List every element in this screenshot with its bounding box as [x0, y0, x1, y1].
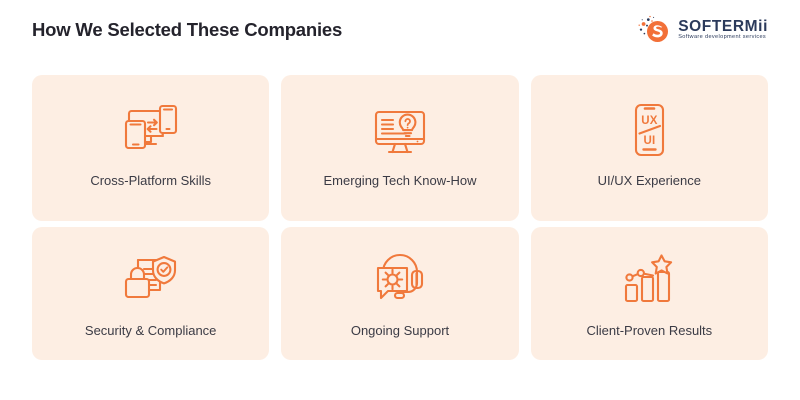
bar-chart-growth-star-icon: [618, 249, 680, 307]
criteria-card-label: Emerging Tech Know-How: [324, 173, 477, 189]
criteria-card-label: UI/UX Experience: [598, 173, 701, 189]
monitor-lightbulb-question-icon: [369, 101, 431, 159]
criteria-card-ongoing-support[interactable]: Ongoing Support: [281, 227, 518, 360]
criteria-card-ui-ux-experience[interactable]: UX UI UI/UX Experience: [531, 75, 768, 221]
logo-name: SOFTERMii: [678, 19, 768, 35]
criteria-card-label: Client-Proven Results: [586, 323, 712, 339]
svg-text:UI: UI: [644, 135, 656, 147]
logo-text: SOFTERMii Software development services: [678, 19, 768, 41]
criteria-card-emerging-tech-know-how[interactable]: Emerging Tech Know-How: [281, 75, 518, 221]
selection-criteria-page: How We Selected These Companies: [0, 0, 800, 400]
lock-document-shield-check-icon: [120, 249, 182, 307]
criteria-card-label: Cross-Platform Skills: [90, 173, 211, 189]
criteria-card-client-proven-results[interactable]: Client-Proven Results: [531, 227, 768, 360]
headset-gear-chat-icon: [369, 249, 431, 307]
devices-sync-icon: [120, 101, 182, 159]
phone-ui-ux-icon: UX UI: [618, 101, 680, 159]
criteria-card-label: Security & Compliance: [85, 323, 217, 339]
svg-text:UX: UX: [642, 115, 659, 127]
softermii-logo[interactable]: SOFTERMii Software development services: [637, 13, 768, 47]
page-title: How We Selected These Companies: [32, 21, 342, 40]
criteria-card-security-compliance[interactable]: Security & Compliance: [32, 227, 269, 360]
logo-tagline: Software development services: [678, 35, 768, 41]
softermii-s-dots-logo-icon: [637, 13, 671, 47]
page-header: How We Selected These Companies: [0, 0, 800, 60]
criteria-card-label: Ongoing Support: [351, 323, 449, 339]
criteria-card-grid: Cross-Platform Skills: [32, 75, 768, 360]
criteria-card-cross-platform-skills[interactable]: Cross-Platform Skills: [32, 75, 269, 221]
